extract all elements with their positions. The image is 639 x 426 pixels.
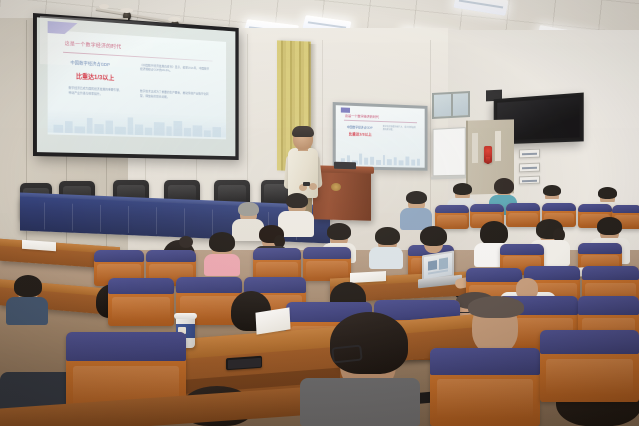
audience-hair — [480, 221, 508, 245]
presenter-clicker — [303, 182, 310, 186]
wall-control-panel[interactable] — [519, 176, 540, 185]
secondary-slide-line2: 比重达1/3以上 — [349, 132, 372, 138]
eyeglasses-icon — [331, 344, 363, 363]
handout-paper — [350, 271, 386, 283]
auditorium-seat[interactable] — [540, 330, 639, 402]
audience-hair — [209, 232, 235, 252]
auditorium-seat[interactable] — [435, 205, 469, 229]
slide-corner-accent — [48, 21, 78, 36]
projection-screen: 这是一个数字经济的时代 中国数字经济占GDP 比重达1/3以上 数字经济已成为国… — [33, 13, 239, 160]
foreground-audience-hair — [468, 296, 524, 318]
slide-body-left: 数字经济已成为国民经济发展的重要引擎，带动产业升级与效率提升。 — [68, 86, 123, 98]
podium-emblem — [331, 183, 341, 191]
audience-hair — [453, 183, 472, 195]
audience-hair — [375, 227, 400, 245]
slide-body-right-top: 《中国数字经济发展白皮书》显示，截至2021年，中国数字经济规模占GDP的39.… — [140, 63, 209, 76]
audience-torso — [204, 254, 240, 276]
slide-line1: 中国数字经济占GDP — [70, 60, 110, 68]
audience-hair — [327, 223, 351, 240]
auditorium-seat[interactable] — [108, 278, 174, 326]
audience-hair — [406, 191, 427, 204]
audience-hair — [238, 202, 259, 216]
secondary-display: 这是一个数字经济的时代 中国数字经济占GDP 比重达1/3以上 数字经济规模持续… — [333, 102, 428, 171]
audience-hair — [14, 275, 42, 297]
wall-control-panel[interactable] — [519, 163, 540, 173]
door-glass-panel — [472, 133, 478, 163]
audience-hair-bun — [179, 236, 193, 248]
spotlight-base — [99, 4, 109, 9]
spotlight-base — [120, 8, 133, 13]
auditorium-seat[interactable] — [506, 203, 540, 227]
audience-torso — [369, 247, 403, 269]
whiteboard — [433, 127, 466, 176]
secondary-slide-title: 这是一个数字经济的时代 — [345, 112, 379, 118]
presenter-hand-right — [309, 183, 317, 190]
audience-hair — [598, 187, 617, 199]
slide-body-right-bottom: 数字技术正成为了重要的生产要素，推动传统产业数字化转型，释放新的增长动能。 — [140, 89, 209, 101]
secondary-slide-body: 数字经济规模持续扩大，成为高质量发展的新动能。 — [383, 126, 416, 133]
slide-skyline-graphic — [48, 110, 227, 138]
audience-hair — [543, 185, 561, 196]
wall-seam — [430, 40, 431, 220]
slide: 这是一个数字经济的时代 中国数字经济占GDP 比重达1/3以上 数字经济已成为国… — [48, 30, 227, 140]
foreground-audience-torso — [300, 378, 420, 426]
wall-window — [432, 91, 470, 119]
podium-laptop[interactable] — [334, 162, 356, 170]
secondary-display-surface: 这是一个数字经济的时代 中国数字经济占GDP 比重达1/3以上 数字经济规模持续… — [336, 105, 425, 168]
foreground-audience-hair — [330, 312, 408, 374]
auditorium-seat[interactable] — [430, 348, 540, 426]
slide-title: 这是一个数字经济的时代 — [65, 40, 122, 50]
slide-line2: 比重达1/3以上 — [76, 71, 114, 82]
smartphone-on-desk[interactable] — [226, 356, 262, 371]
lecture-hall-photo: 这是一个数字经济的时代 中国数字经济占GDP 比重达1/3以上 数字经济已成为国… — [0, 0, 639, 426]
spotlight-base — [168, 17, 181, 22]
presenter-hair — [292, 126, 314, 137]
audience-hair — [494, 178, 514, 194]
audience-hair — [597, 217, 622, 235]
projection-screen-surface: 这是一个数字经济的时代 中国数字经济占GDP 比重达1/3以上 数字经济已成为国… — [37, 17, 235, 156]
wall-control-panel[interactable] — [519, 149, 540, 159]
secondary-slide-rule — [344, 120, 417, 124]
audience-hair — [420, 226, 447, 246]
chinese-knot-decoration — [484, 146, 492, 163]
audience-torso — [6, 297, 48, 325]
auditorium-seat[interactable] — [303, 247, 351, 281]
audience-hair — [286, 193, 308, 208]
door-glass-panel — [495, 131, 501, 161]
secondary-slide-line1: 中国数字经济占GDP — [347, 125, 373, 130]
coffee-cup-lid — [174, 313, 197, 319]
